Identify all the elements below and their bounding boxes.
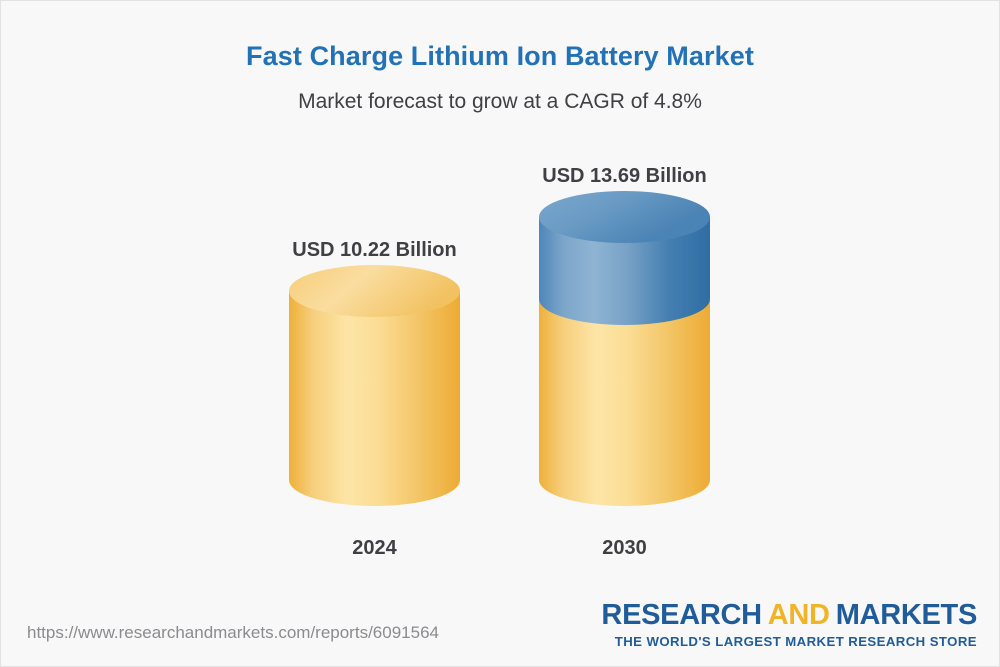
value-label-2030: USD 13.69 Billion [499, 165, 750, 188]
report-url[interactable]: https://www.researchandmarkets.com/repor… [27, 623, 439, 643]
category-label-2030: 2030 [539, 537, 710, 560]
plot-area: USD 10.22 Billion [1, 1, 1000, 601]
cylinder-2024 [289, 265, 460, 525]
chart-canvas: Fast Charge Lithium Ion Battery Market M… [0, 0, 1000, 667]
value-label-2024: USD 10.22 Billion [249, 239, 500, 262]
logo-word-markets: MARKETS [836, 599, 977, 631]
category-label-2024: 2024 [289, 537, 460, 560]
bar-group-2030: USD 13.69 Billion [539, 191, 710, 525]
logo-wordmark: RESEARCHANDMARKETS [601, 601, 977, 630]
logo-word-research: RESEARCH [601, 599, 761, 631]
bar-group-2024: USD 10.22 Billion [289, 265, 460, 525]
cylinder-2030 [539, 191, 710, 525]
logo-tagline: THE WORLD'S LARGEST MARKET RESEARCH STOR… [601, 634, 977, 649]
logo-word-and: AND [762, 599, 836, 631]
research-and-markets-logo[interactable]: RESEARCHANDMARKETS THE WORLD'S LARGEST M… [601, 601, 977, 649]
